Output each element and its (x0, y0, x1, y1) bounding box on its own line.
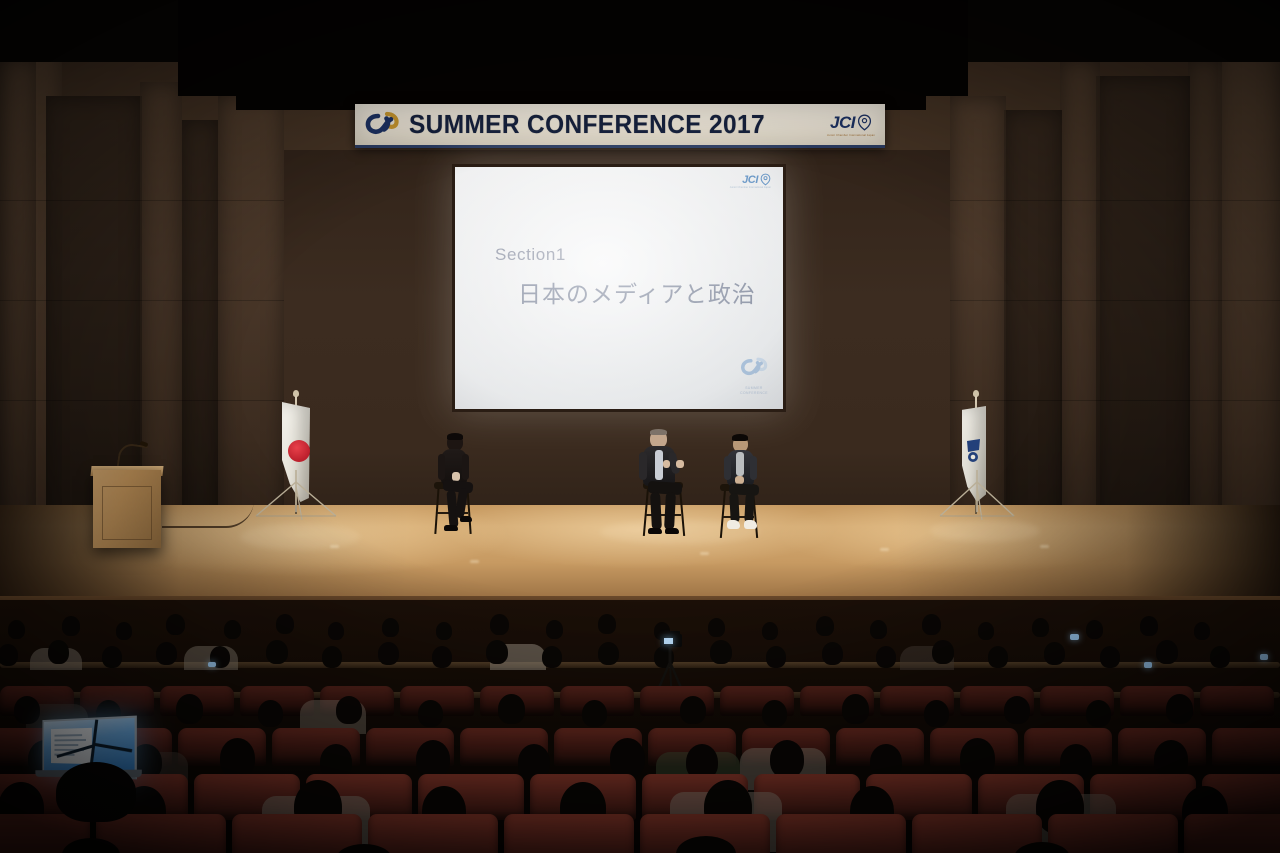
speaker-lower-leg (664, 492, 676, 530)
theater-seat[interactable] (504, 814, 634, 853)
audience-head (276, 614, 294, 634)
audience-head (1166, 694, 1193, 724)
audience-head (762, 700, 787, 727)
panelist-white-sneaker (744, 520, 757, 529)
audience-head (1044, 642, 1065, 665)
audience-head (328, 622, 344, 640)
panelist-hair (732, 434, 748, 441)
hinomaru-disc (288, 440, 310, 462)
speaker-arm (639, 452, 647, 480)
flag-stand (934, 470, 1020, 522)
audience-head (816, 616, 834, 636)
conference-hall-photo: SUMMER CONFERENCE 2017 JCI Junior Chambe… (0, 0, 1280, 853)
audience-head (876, 646, 896, 668)
floor-marker (880, 548, 889, 551)
audience-head (1086, 700, 1111, 727)
speaker-lower-leg (650, 492, 662, 530)
audience-head (1100, 646, 1120, 668)
theater-seat[interactable] (1184, 814, 1280, 853)
speaker-shirt (655, 450, 663, 480)
audience-head (266, 640, 288, 664)
audience-head (1210, 646, 1230, 668)
jci-logo-subtitle: Junior Chamber International Japan (827, 134, 875, 137)
wall-panel-right-3 (1096, 76, 1190, 576)
theater-seat[interactable] (776, 814, 906, 853)
speaker-shoe (648, 528, 662, 534)
audience-head (258, 700, 283, 727)
panelist-arm (724, 456, 731, 480)
jci-logo-text: JCI (830, 113, 855, 133)
panel-seam (0, 200, 300, 201)
audience-head (766, 646, 786, 668)
audience-head (322, 646, 342, 668)
panel-seam (0, 300, 300, 301)
banner-title: SUMMER CONFERENCE 2017 (409, 109, 765, 140)
jci-shield-icon (857, 114, 872, 131)
audience-head (546, 620, 563, 639)
audience-head-foreground (56, 762, 136, 822)
audience-head (436, 622, 452, 640)
speaker-hand-gesturing (676, 460, 684, 468)
audience-head (102, 646, 122, 668)
theater-seat[interactable] (1200, 686, 1274, 716)
wall-panel-left-2 (0, 58, 36, 578)
audience-head (378, 642, 399, 665)
floor-marker (330, 545, 339, 548)
audience-head (176, 694, 203, 724)
audience-head (490, 614, 509, 635)
audience-head (582, 700, 607, 727)
theater-seat[interactable] (1048, 814, 1178, 853)
audience-head (680, 696, 706, 724)
audience-head (598, 642, 619, 665)
audience-head (1156, 640, 1178, 664)
audience-head (418, 700, 443, 727)
jci-logo: JCI Junior Chamber International Japan (827, 113, 875, 137)
panelist-lower-leg (729, 493, 740, 523)
audience-head (922, 614, 941, 635)
audience-head (382, 618, 399, 637)
panelist-arm (462, 454, 469, 480)
slide-footer-logo: SUMMER CONFERENCE (739, 356, 769, 395)
audience-head (1194, 622, 1210, 640)
stage-cable (162, 500, 254, 528)
audience-head (416, 740, 450, 778)
audience-head (822, 642, 843, 665)
camera-lcd-screen (664, 638, 673, 644)
slide-summer-conference-icon (739, 356, 769, 380)
speaker-shoe (665, 528, 679, 534)
floor-light-pool (930, 520, 1040, 542)
audience-head (166, 614, 185, 635)
audience-head (432, 646, 452, 668)
audience-head (336, 696, 362, 724)
panelist-shirt (736, 452, 744, 476)
theater-seat[interactable] (1212, 728, 1280, 766)
theater-seat[interactable] (232, 814, 362, 853)
slide-jci-logo-subtitle: Junior Chamber International Japan (730, 186, 771, 189)
event-banner: SUMMER CONFERENCE 2017 JCI Junior Chambe… (355, 104, 885, 148)
audience-head (870, 620, 887, 639)
audience-head (932, 640, 954, 664)
screen-divider (94, 743, 132, 753)
panel-seam (0, 400, 300, 401)
audience-head (8, 620, 25, 639)
audience-head (0, 644, 18, 666)
panel-seam (950, 400, 1280, 401)
audience-head (1140, 616, 1158, 636)
audience-head (762, 622, 778, 640)
speaker-hair (650, 429, 667, 435)
speaker-hand (663, 460, 670, 468)
audience-head (598, 614, 616, 634)
panelist-hair (447, 433, 463, 440)
flag-stand (250, 470, 342, 522)
panelist-white-sneaker (727, 520, 740, 529)
floor-marker (700, 552, 709, 555)
slide-footer-logo-name: SUMMER (739, 386, 769, 390)
slide-section-label: Section1 (495, 245, 566, 265)
audience-head (610, 738, 645, 778)
audience-head (708, 618, 725, 637)
audience-area (0, 600, 1280, 853)
audience-head (498, 694, 525, 724)
audience-head (116, 622, 132, 640)
audience-head (14, 696, 40, 724)
slide-footer-logo-subtitle: CONFERENCE (739, 391, 769, 395)
audience-head (1086, 620, 1103, 639)
audience-head (1032, 618, 1049, 637)
slide-heading: 日本のメディアと政治 (518, 275, 756, 309)
audience-head (542, 646, 562, 668)
audience-head (220, 738, 255, 778)
ceiling-soffit-inner (236, 0, 926, 110)
slide-jci-shield-icon (760, 173, 771, 186)
device-screen-glow (1070, 634, 1079, 640)
panel-seam (950, 200, 1280, 201)
audience-head (924, 700, 949, 727)
wall-panel-right-2 (1188, 58, 1222, 578)
wall-panel-right-1 (1218, 10, 1280, 570)
theater-seat[interactable] (368, 814, 498, 853)
projection-screen: JCI Junior Chamber International Japan S… (455, 167, 783, 409)
audience-head (224, 620, 241, 639)
slide-jci-logo: JCI (742, 173, 771, 186)
audience-head (62, 616, 80, 636)
audience-head (156, 642, 177, 665)
audience-head (960, 738, 995, 778)
panelist-lower-leg (744, 493, 755, 523)
panel-seam (950, 300, 1280, 301)
audience-head (1154, 740, 1188, 778)
wall-panel-right-4 (1060, 60, 1100, 576)
audience-head (1004, 696, 1030, 724)
audience-head (48, 640, 69, 664)
panelist-shoe (444, 525, 458, 531)
floor-marker (470, 560, 479, 563)
audience-head (842, 694, 869, 724)
audience-head (988, 646, 1008, 668)
floor-light-pool (240, 524, 360, 550)
slide-jci-logo-text: JCI (742, 174, 758, 186)
jci-flag-emblem-icon (965, 438, 983, 464)
device-screen-glow (1260, 654, 1268, 660)
audience-head (486, 640, 508, 664)
floor-marker (1040, 545, 1049, 548)
panelist-arm (750, 456, 757, 480)
projection-screen-frame: JCI Junior Chamber International Japan S… (452, 164, 786, 412)
device-screen-glow (208, 662, 216, 667)
panelist-shoe (460, 516, 472, 522)
panelist-arm (438, 454, 445, 480)
podium-front-panel (102, 486, 152, 540)
summer-conference-logo-icon (365, 110, 399, 140)
device-screen-glow (1144, 662, 1152, 668)
audience-head (710, 640, 732, 664)
audience-head (770, 740, 804, 778)
audience-head (978, 622, 994, 640)
